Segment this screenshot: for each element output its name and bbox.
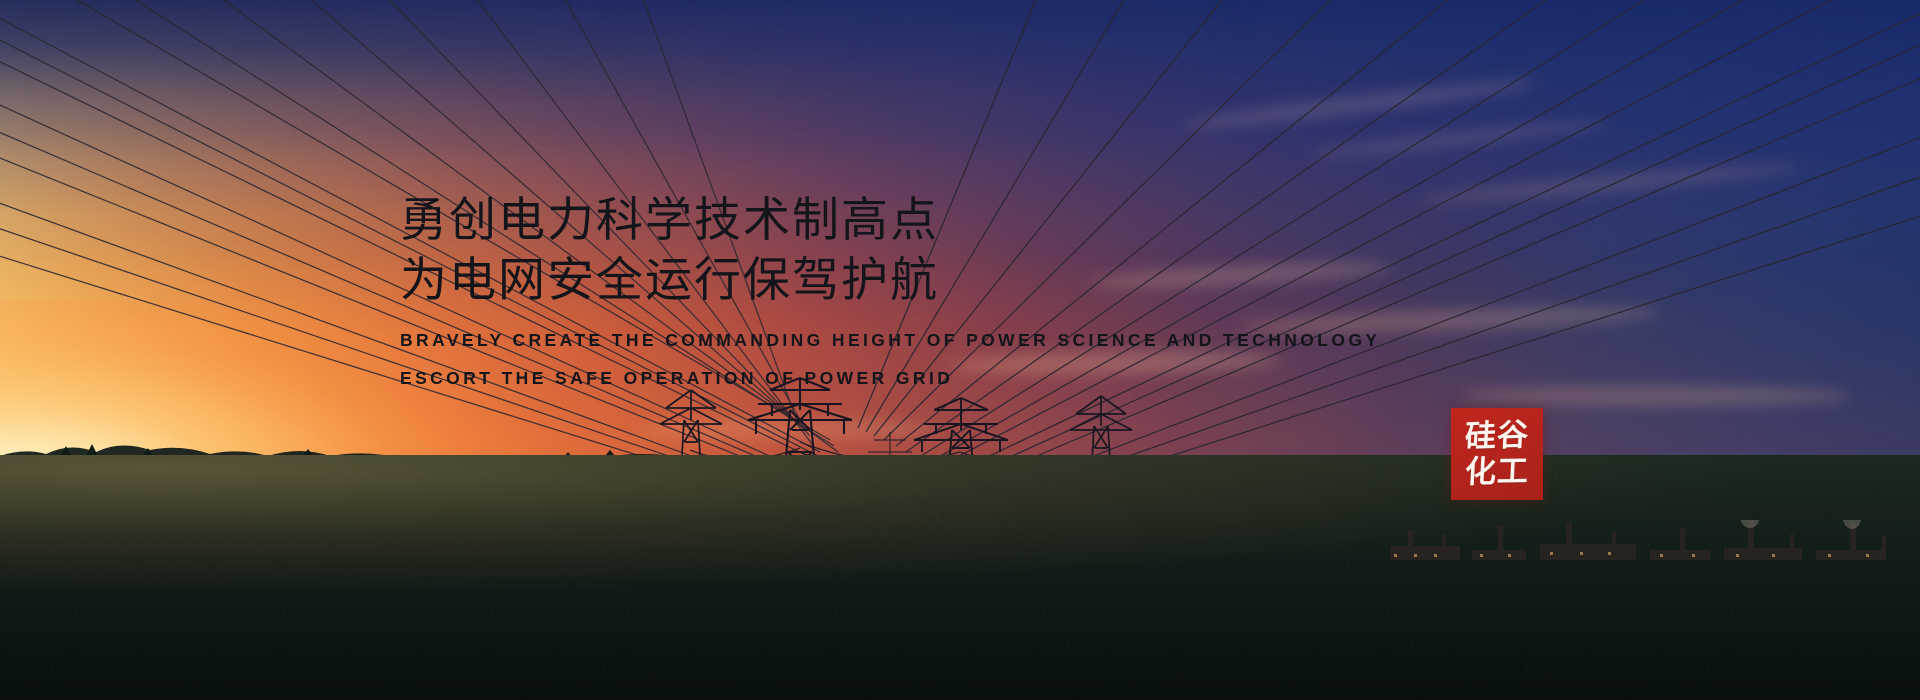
headline-line-1: 勇创电力科学技术制高点 [400,190,1500,250]
banner-stage: 勇创电力科学技术制高点 为电网安全运行保驾护航 BRAVELY CREATE T… [0,0,1920,700]
seal-line-2: 化工 [1464,453,1530,490]
headline-line-2: 为电网安全运行保驾护航 [400,250,1500,310]
company-seal-logo[interactable]: 硅谷 化工 [1451,408,1543,500]
refinery-skyline [1380,520,1920,580]
banner-copy: 勇创电力科学技术制高点 为电网安全运行保驾护航 BRAVELY CREATE T… [400,190,1500,389]
seal-inner: 硅谷 化工 [1451,408,1543,500]
subtitle-line-2: ESCORT THE SAFE OPERATION OF POWER GRID [400,368,1500,389]
seal-line-1: 硅谷 [1464,417,1530,455]
field-furrows [0,470,1920,700]
subtitle-line-1: BRAVELY CREATE THE COMMANDING HEIGHT OF … [400,330,1500,351]
